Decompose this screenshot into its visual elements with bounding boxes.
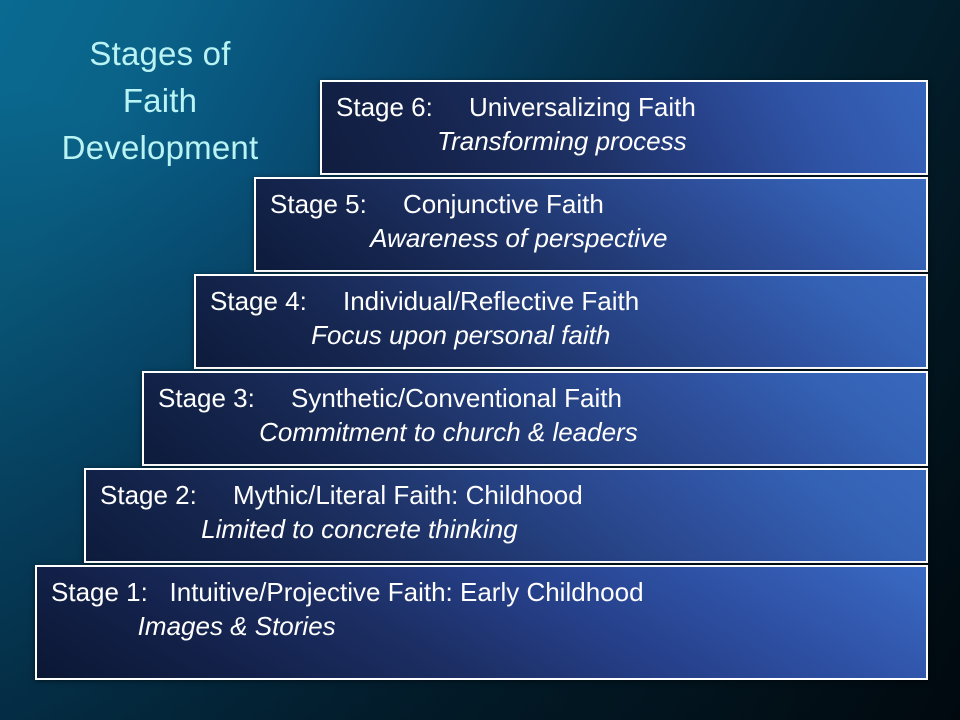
stage-box-4: Stage 4: Individual/Reflective Faith Foc… <box>194 274 928 369</box>
stage-2-title-line: Stage 2: Mythic/Literal Faith: Childhood <box>100 478 926 512</box>
page-title: Stages of Faith Development <box>10 30 310 171</box>
stage-box-1: Stage 1: Intuitive/Projective Faith: Ear… <box>35 565 928 680</box>
stage-6-descriptor-line: Transforming process <box>336 124 926 158</box>
stage-6-title-line: Stage 6: Universalizing Faith <box>336 90 926 124</box>
stage-3-descriptor-line: Commitment to church & leaders <box>158 415 926 449</box>
stage-box-6: Stage 6: Universalizing Faith Transformi… <box>320 80 928 175</box>
stage-4-descriptor-line: Focus upon personal faith <box>210 318 926 352</box>
stage-3-title-line: Stage 3: Synthetic/Conventional Faith <box>158 381 926 415</box>
stage-box-5: Stage 5: Conjunctive Faith Awareness of … <box>254 177 928 272</box>
stage-5-descriptor-line: Awareness of perspective <box>270 221 926 255</box>
stage-1-descriptor-line: Images & Stories <box>51 609 926 643</box>
stage-4-title-line: Stage 4: Individual/Reflective Faith <box>210 284 926 318</box>
stage-5-title-line: Stage 5: Conjunctive Faith <box>270 187 926 221</box>
stage-1-title-line: Stage 1: Intuitive/Projective Faith: Ear… <box>51 575 926 609</box>
slide-canvas: Stages of Faith Development Stage 6: Uni… <box>0 0 960 720</box>
stage-box-2: Stage 2: Mythic/Literal Faith: Childhood… <box>84 468 928 563</box>
stage-box-3: Stage 3: Synthetic/Conventional Faith Co… <box>142 371 928 466</box>
stage-2-descriptor-line: Limited to concrete thinking <box>100 512 926 546</box>
